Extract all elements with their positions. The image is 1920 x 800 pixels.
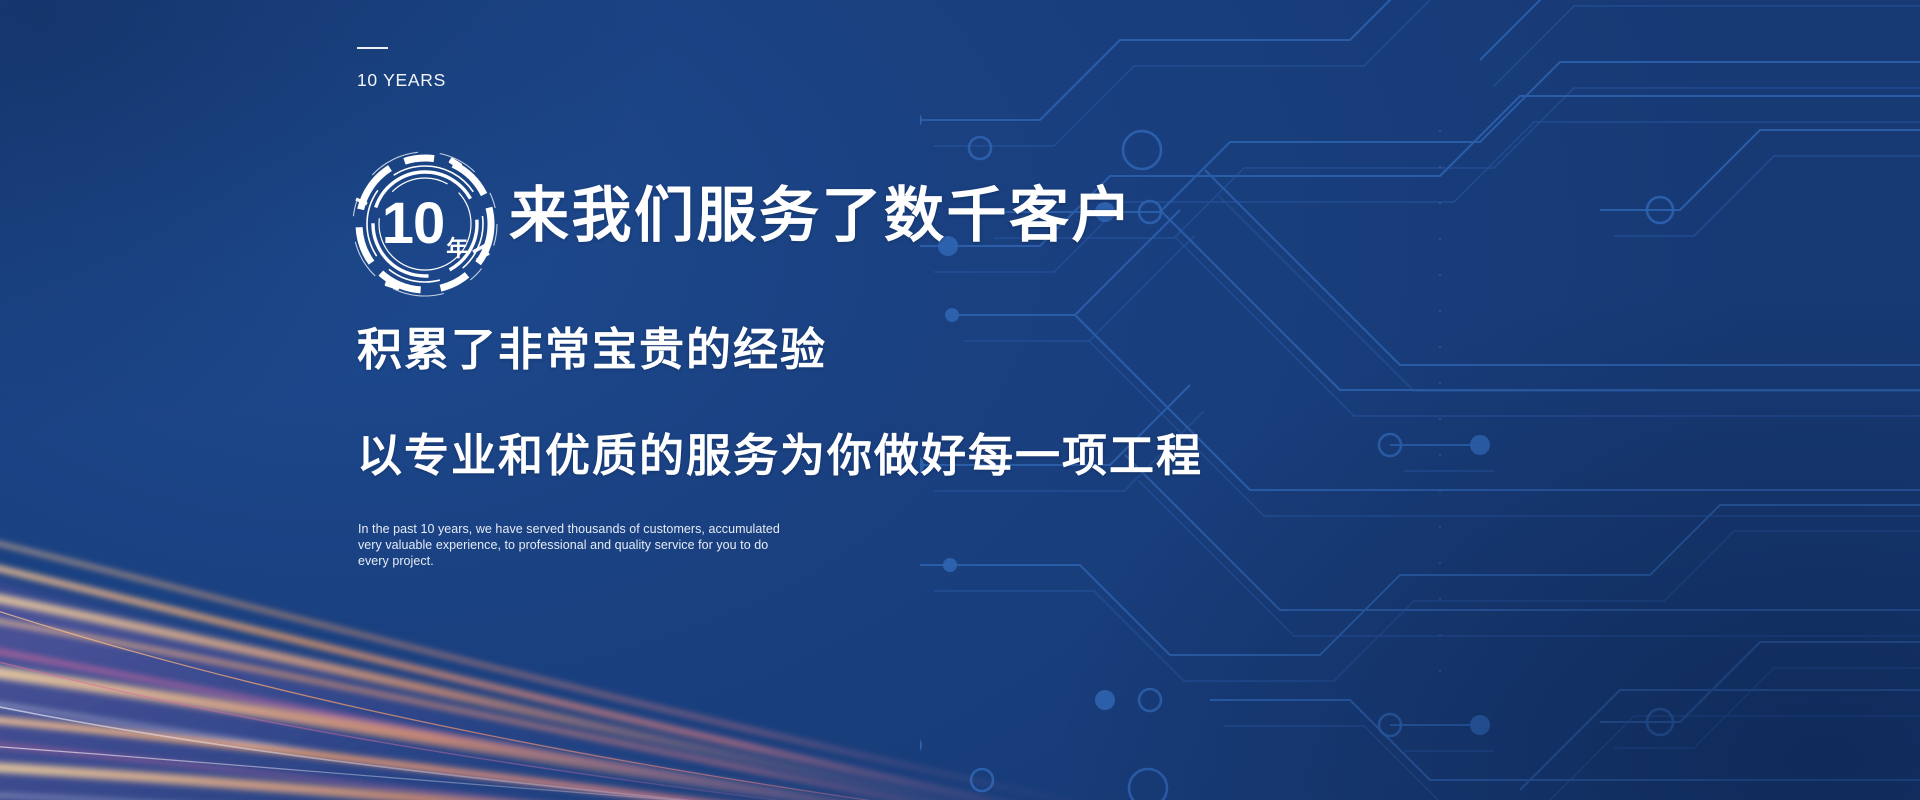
seal-unit: 年 bbox=[446, 238, 468, 260]
headline-primary: 来我们服务了数千客户 bbox=[509, 186, 1134, 246]
seal-number: 10 bbox=[382, 195, 445, 253]
eyebrow-label: 10 YEARS bbox=[357, 70, 446, 91]
eyebrow-rule-icon bbox=[357, 47, 388, 49]
english-description: In the past 10 years, we have served tho… bbox=[358, 521, 790, 569]
banner-content: 10 YEARS bbox=[357, 0, 1557, 800]
headline-secondary: 积累了非常宝贵的经验 bbox=[357, 327, 827, 372]
anniversary-seal-icon: 10 年 bbox=[345, 144, 505, 304]
banner-stage: 10 YEARS bbox=[0, 0, 1920, 800]
headline-tertiary: 以专业和优质的服务为你做好每一项工程 bbox=[357, 433, 1203, 478]
